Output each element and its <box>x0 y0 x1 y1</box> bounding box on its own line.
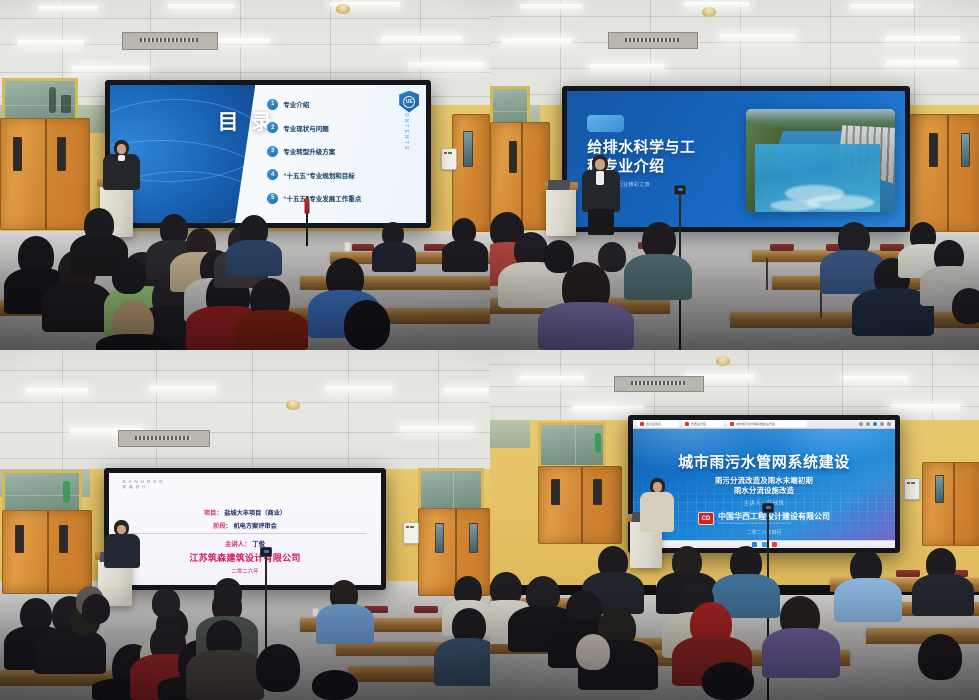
toc-label: “十五五”专业发展工作重点 <box>283 193 361 203</box>
toc-label: “十五五”专业规划和目标 <box>283 170 355 180</box>
speaker-row: 主讲人： 丁俊 <box>109 539 381 548</box>
audience-head <box>918 634 962 680</box>
toc-label: 专业介绍 <box>283 99 309 109</box>
slide-title: 城市雨污水管网系统建设 <box>633 451 895 472</box>
audience-body <box>442 240 488 272</box>
corp-logo-badge: CD <box>698 512 714 525</box>
lecture-room-scene: 会议签到表 华西设计院 城市雨污水管网系统建设方案 城市雨污水管网系统建设 雨污… <box>490 350 979 700</box>
glass-partition <box>538 422 606 468</box>
toc-number: 3 <box>267 146 278 157</box>
company-logo: SANHOOD 筑森设计 <box>123 479 166 491</box>
phone-holder <box>762 503 774 513</box>
audience-head <box>598 242 626 272</box>
stage-label: 阶段： <box>213 523 232 530</box>
toc-list: 1 专业介绍 2 专业现状与问题 3 专业转型升级方案 4 <box>255 85 426 223</box>
slide-title-line1: 给排水科学与工 <box>587 139 695 157</box>
projection-screen: 目 录 CONTENTS 1 专业介绍 2 专业现状与问题 3 <box>105 80 431 228</box>
list-item: 5 “十五五”专业发展工作重点 <box>267 193 361 204</box>
ceiling-vent <box>608 32 698 49</box>
list-item: 4 “十五五”专业规划和目标 <box>267 169 355 180</box>
presenter <box>98 140 144 192</box>
audience-body <box>912 574 974 616</box>
slide-photo <box>746 109 895 212</box>
wall-control-panel[interactable] <box>441 148 457 170</box>
contents-vertical-label: CONTENTS <box>403 107 409 151</box>
presenter-body <box>640 492 674 532</box>
phone-holder <box>674 185 686 195</box>
audience-head <box>952 288 979 324</box>
project-row: 项目： 盐城大丰项目（商业） <box>109 508 381 517</box>
podium <box>546 188 576 236</box>
list-item: 3 专业转型升级方案 <box>267 146 335 157</box>
browser-toolbar[interactable]: 会议签到表 华西设计院 城市雨污水管网系统建设方案 <box>633 420 895 429</box>
audience-body <box>226 240 282 276</box>
audience-body <box>372 242 416 272</box>
wall-upper-band <box>490 420 530 448</box>
audience-head <box>256 644 300 692</box>
presenter-shirt <box>118 155 125 161</box>
list-item: 2 专业现状与问题 <box>267 122 329 133</box>
lecture-room-scene: 给排水科学与工 程专业介绍 开启给排水行业精彩之旅 <box>490 0 979 350</box>
laptop <box>547 180 570 190</box>
presenter <box>578 155 624 235</box>
wall-control-panel[interactable] <box>904 478 920 500</box>
collage-panel-bottom-right: 会议签到表 华西设计院 城市雨污水管网系统建设方案 城市雨污水管网系统建设 雨污… <box>490 350 979 700</box>
toc-number: 4 <box>267 169 278 180</box>
company-name: 江苏筑森建筑设计有限公司 <box>109 551 381 564</box>
presenter <box>638 478 678 534</box>
collage-panel-bottom-left: SANHOOD 筑森设计 项目： 盐城大丰项目（商业） 阶段： 机电方案评审会 … <box>0 350 490 700</box>
ceiling-fixture <box>702 7 716 17</box>
browser-tab-active[interactable]: 城市雨污水管网系统建设方案 <box>727 421 807 427</box>
toc-label: 专业现状与问题 <box>283 123 329 133</box>
presenter-legs <box>588 209 614 235</box>
phone-holder <box>305 198 310 214</box>
audience-head <box>214 578 242 608</box>
paper-cup <box>344 242 351 252</box>
presenter-shirt <box>596 171 604 185</box>
logo-ring: UE <box>403 96 415 108</box>
audience-body <box>538 302 634 350</box>
audience-body <box>42 282 112 332</box>
collage-panel-top-right: 给排水科学与工 程专业介绍 开启给排水行业精彩之旅 <box>490 0 979 350</box>
audience-body <box>834 578 902 622</box>
stage-row: 阶段： 机电方案评审会 <box>109 521 381 530</box>
toc-number: 2 <box>267 122 278 133</box>
logo-line2: 筑森设计 <box>123 485 166 490</box>
presenter-face <box>653 482 662 492</box>
door-right[interactable] <box>452 114 490 232</box>
desk-leg <box>766 258 768 290</box>
presenter-face <box>117 144 126 154</box>
lecture-room-scene: 目 录 CONTENTS 1 专业介绍 2 专业现状与问题 3 <box>0 0 490 350</box>
audience-body <box>186 650 264 700</box>
presenter <box>100 520 144 568</box>
ceiling-vent <box>118 430 210 447</box>
audience-body <box>762 628 840 678</box>
door-right[interactable] <box>908 114 979 232</box>
phone-holder <box>260 547 272 557</box>
divider <box>123 533 368 534</box>
list-item: 1 专业介绍 <box>267 99 309 110</box>
ceiling-vent <box>614 376 704 392</box>
project-label: 项目： <box>204 510 223 517</box>
audience-body <box>96 334 172 350</box>
audience-head <box>152 588 180 618</box>
lecture-room-scene: SANHOOD 筑森设计 项目： 盐城大丰项目（商业） 阶段： 机电方案评审会 … <box>0 350 490 700</box>
ceiling <box>0 350 490 476</box>
chair-back <box>770 244 794 251</box>
slide-project-review: SANHOOD 筑森设计 项目： 盐城大丰项目（商业） 阶段： 机电方案评审会 … <box>109 473 381 585</box>
projection-screen: SANHOOD 筑森设计 项目： 盐城大丰项目（商业） 阶段： 机电方案评审会 … <box>104 468 386 590</box>
speaker-label: 主讲人： <box>225 541 251 548</box>
project-value: 盐城大丰项目（商业） <box>224 510 286 517</box>
presenter-body <box>104 534 140 568</box>
slide-table-of-contents: 目 录 CONTENTS 1 专业介绍 2 专业现状与问题 3 <box>110 85 426 223</box>
audience-head <box>576 634 610 670</box>
camera-tripod <box>300 196 314 246</box>
ceiling-fixture <box>716 356 730 366</box>
door-left[interactable] <box>0 118 90 230</box>
desk <box>866 628 979 638</box>
stage-value: 机电方案评审会 <box>233 523 276 530</box>
chair-back <box>896 570 920 577</box>
ceiling-grid <box>0 350 490 476</box>
chair-back <box>352 244 374 251</box>
browser-tab[interactable]: 会议签到表 <box>637 421 679 427</box>
glass-partition <box>2 470 82 514</box>
door-left[interactable] <box>2 510 92 594</box>
audience-head <box>112 258 146 294</box>
window-controls[interactable] <box>859 422 891 426</box>
browser-tab[interactable]: 华西设计院 <box>682 421 724 427</box>
door-right[interactable] <box>922 462 979 546</box>
photo-collage: 目 录 CONTENTS 1 专业介绍 2 专业现状与问题 3 <box>0 0 979 700</box>
audience-body <box>434 638 490 686</box>
presenter-face <box>595 159 605 170</box>
wall-control-panel[interactable] <box>403 522 419 544</box>
ceiling-vent <box>122 32 218 50</box>
audience-body <box>624 254 692 300</box>
chair-back <box>414 606 438 613</box>
slide-accent-chip <box>587 115 624 131</box>
audience-body <box>34 628 106 674</box>
audience-head <box>344 300 390 350</box>
audience-head <box>82 594 110 624</box>
toc-number: 1 <box>267 99 278 110</box>
door-left[interactable] <box>538 466 622 544</box>
toc-label: 专业转型升级方案 <box>283 146 335 156</box>
ceiling-fixture <box>336 4 350 14</box>
presenter-face <box>117 525 126 534</box>
audience-head <box>702 662 754 700</box>
glass-partition-right <box>418 468 484 512</box>
collage-panel-top-left: 目 录 CONTENTS 1 专业介绍 2 专业现状与问题 3 <box>0 0 490 350</box>
audience-head <box>312 670 358 700</box>
audience-body <box>316 604 374 644</box>
toc-number: 5 <box>267 193 278 204</box>
ceiling-fixture <box>286 400 300 410</box>
slide-date: 二零二六年 <box>109 567 381 575</box>
audience-body <box>234 310 308 350</box>
